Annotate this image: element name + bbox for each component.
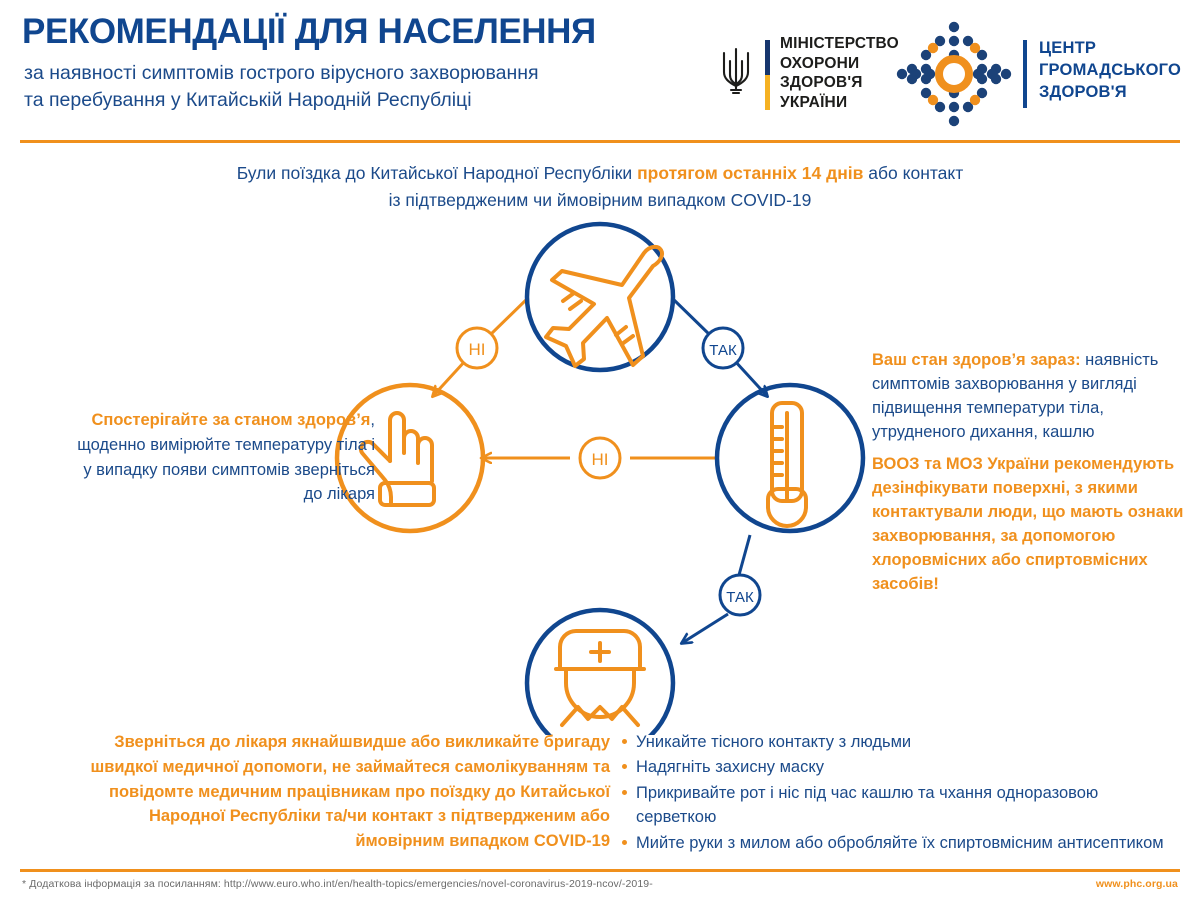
cphc-logo-divider-bar — [1023, 40, 1027, 108]
cphc-line-1: ЦЕНТР — [1039, 38, 1181, 60]
node-plane — [527, 224, 673, 370]
ministry-of-health-logo: МІНІСТЕРСТВО ОХОРОНИ ЗДОРОВ'Я УКРАЇНИ — [718, 22, 888, 127]
ukraine-trident-emblem-icon — [718, 44, 754, 96]
lead-paragraph: Були поїздка до Китайської Народної Респ… — [180, 160, 1020, 214]
right-note-disinfection: ВООЗ та МОЗ України рекомендують дезінфі… — [872, 452, 1192, 596]
lead-part-1: Були поїздка до Китайської Народної Респ… — [237, 163, 637, 183]
node-doctor — [527, 610, 673, 735]
moz-logo-divider-bar — [765, 40, 770, 110]
page-title: РЕКОМЕНДАЦІЇ ДЛЯ НАСЕЛЕННЯ — [22, 14, 702, 51]
footer-source-note: * Додаткова інформація за посиланням: ht… — [22, 878, 653, 890]
moz-line-4: УКРАЇНИ — [780, 93, 899, 113]
subtitle-line-1: за наявності симптомів гострого вірусног… — [24, 60, 714, 87]
cphc-line-3: ЗДОРОВ'Я — [1039, 82, 1181, 104]
node-thermometer — [717, 385, 863, 531]
edge-label-yes-top: ТАК — [703, 328, 743, 368]
footer-website-link[interactable]: www.phc.org.ua — [1096, 878, 1178, 890]
edge-label-no-top: НІ — [457, 328, 497, 368]
doctor-icon — [556, 631, 644, 725]
list-item: Уникайте тісного контакту з людьми — [622, 730, 1182, 754]
lead-line-2: із підтвердженим чи ймовірним випадком C… — [389, 190, 812, 210]
edge-label-no-middle: НІ — [580, 438, 620, 478]
page-subtitle: за наявності симптомів гострого вірусног… — [24, 60, 714, 114]
moz-line-2: ОХОРОНИ — [780, 54, 899, 74]
left-note: Спостерігайте за станом здоров’я, щоденн… — [70, 408, 375, 507]
airplane-icon — [546, 247, 662, 366]
cphc-logo-text: ЦЕНТР ГРОМАДСЬКОГО ЗДОРОВ'Я — [1039, 38, 1181, 104]
moz-line-1: МІНІСТЕРСТВО — [780, 34, 899, 54]
bottom-left-advice: Зверніться до лікаря якнайшвидше або вик… — [60, 730, 610, 854]
edge-label-yes-bottom: ТАК — [720, 575, 760, 615]
moz-logo-text: МІНІСТЕРСТВО ОХОРОНИ ЗДОРОВ'Я УКРАЇНИ — [780, 34, 899, 113]
list-item: Надягніть захисну маску — [622, 755, 1182, 779]
cphc-line-2: ГРОМАДСЬКОГО — [1039, 60, 1181, 82]
thermometer-icon — [768, 403, 806, 526]
divider-top — [20, 140, 1180, 143]
right-note-health-status: Ваш стан здоров’я зараз: наявність симпт… — [872, 348, 1192, 444]
divider-bottom — [20, 869, 1180, 872]
public-health-center-logo: ЦЕНТР ГРОМАДСЬКОГО ЗДОРОВ'Я — [893, 18, 1193, 130]
edge-label-no-middle-text: НІ — [592, 450, 609, 469]
bottom-right-advice: Уникайте тісного контакту з людьми Надяг… — [622, 730, 1182, 856]
infographic-page: РЕКОМЕНДАЦІЇ ДЛЯ НАСЕЛЕННЯ за наявності … — [0, 0, 1200, 900]
cphc-dot-diamond-mark-icon — [893, 18, 1015, 130]
list-item: Мийте руки з милом або обробляйте їх спи… — [622, 831, 1182, 855]
moz-line-3: ЗДОРОВ'Я — [780, 73, 899, 93]
subtitle-line-2: та перебування у Китайській Народній Рес… — [24, 87, 714, 114]
edge-label-yes-bottom-text: ТАК — [726, 589, 754, 606]
advice-list: Уникайте тісного контакту з людьми Надяг… — [622, 730, 1182, 855]
edge-label-yes-top-text: ТАК — [709, 342, 737, 359]
lead-part-2: або контакт — [863, 163, 963, 183]
header: РЕКОМЕНДАЦІЇ ДЛЯ НАСЕЛЕННЯ за наявності … — [0, 0, 1200, 140]
right-note-1-bold: Ваш стан здоров’я зараз: — [872, 351, 1081, 369]
list-item: Прикривайте рот і ніс під час кашлю та ч… — [622, 781, 1182, 830]
edge-label-no-top-text: НІ — [469, 340, 486, 359]
decision-flow-diagram: НІ ТАК НІ ТАК — [330, 215, 870, 735]
lead-highlight: протягом останніх 14 днів — [637, 163, 863, 183]
left-note-bold: Спостерігайте за станом здоров’я — [91, 411, 370, 429]
